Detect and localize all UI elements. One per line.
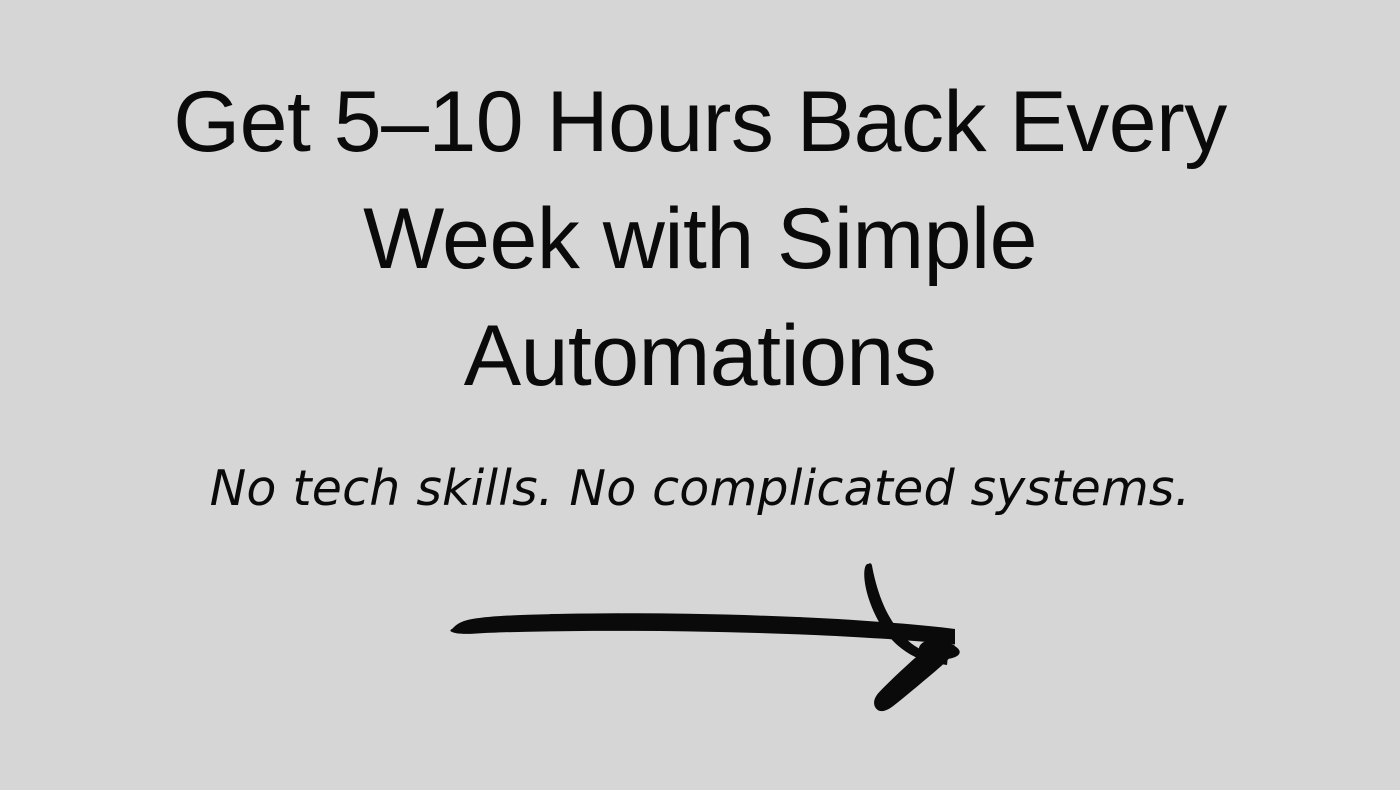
subtitle: No tech skills. No complicated systems. [0,458,1400,520]
hand-drawn-right-arrow-icon [430,548,975,733]
promo-slide: Get 5–10 Hours Back Every Week with Simp… [0,0,1400,790]
page-title: Get 5–10 Hours Back Every Week with Simp… [0,64,1400,415]
headline-line-1: Get 5–10 Hours Back Every [0,64,1400,181]
headline-line-2: Week with Simple [0,181,1400,298]
headline-line-3: Automations [0,298,1400,415]
